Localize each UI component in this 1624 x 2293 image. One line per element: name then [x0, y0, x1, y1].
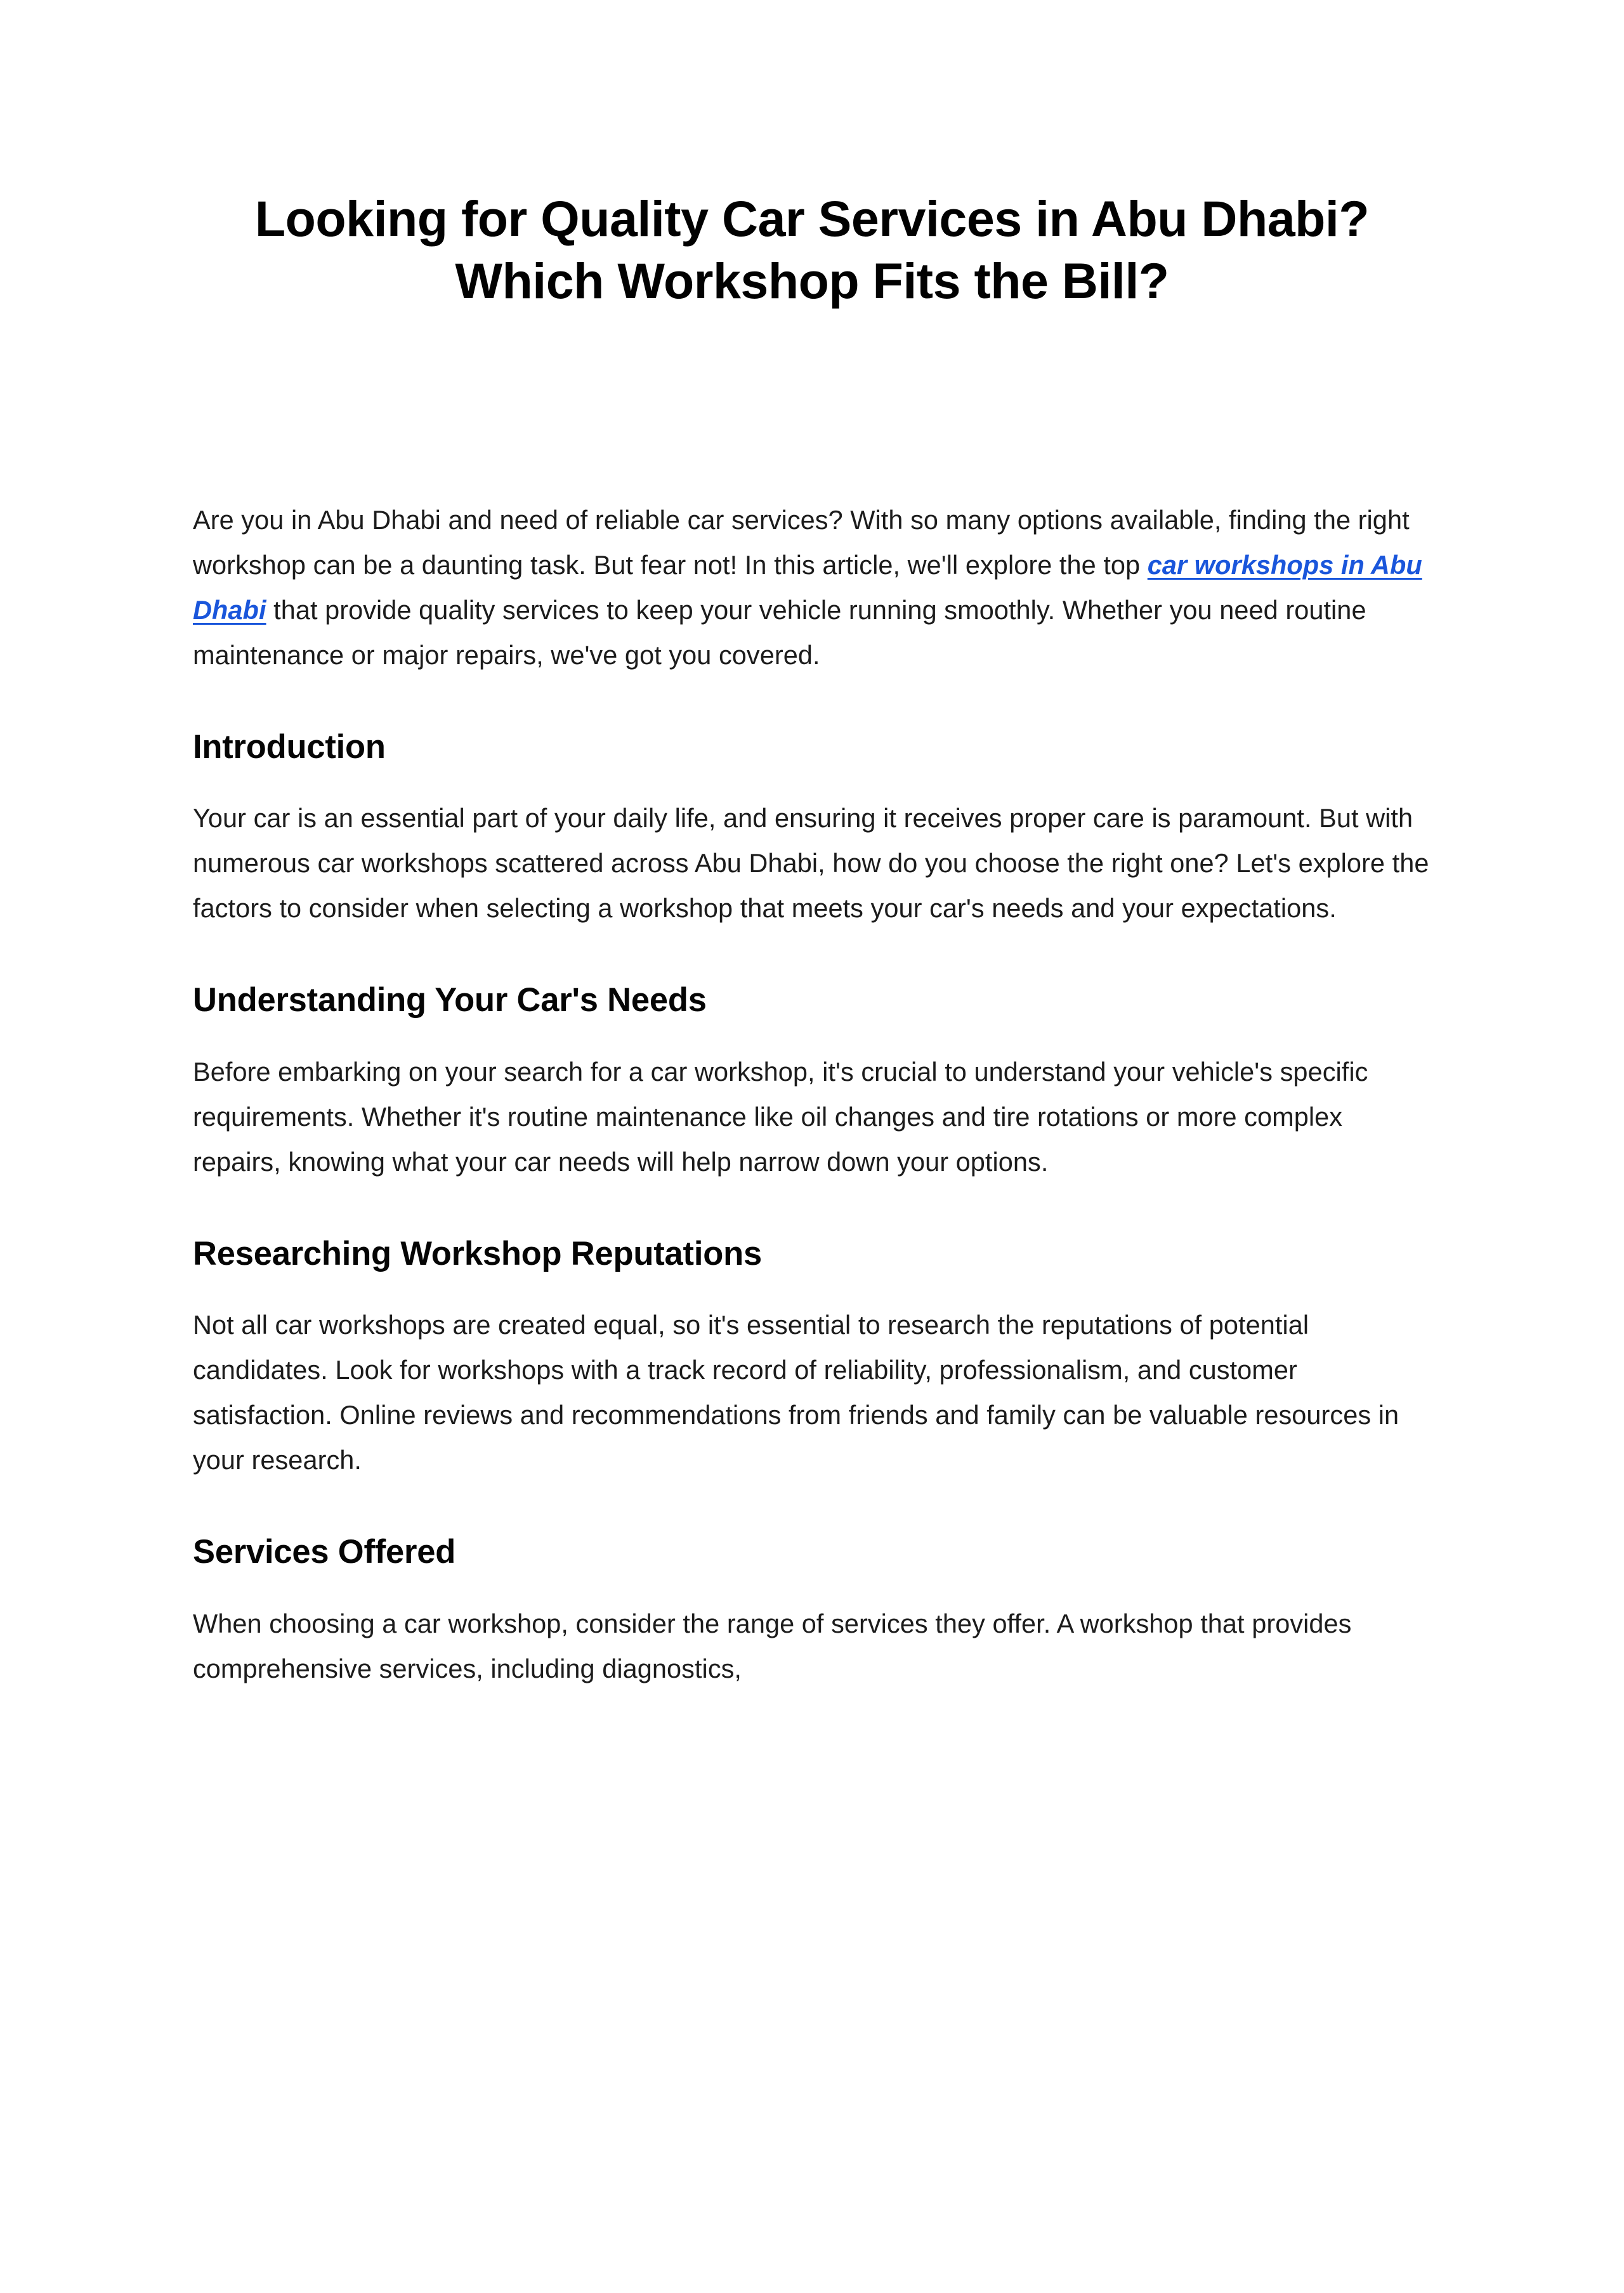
- document-content-column: Looking for Quality Car Services in Abu …: [193, 0, 1431, 1691]
- section-heading-understanding-your-cars-needs: Understanding Your Car's Needs: [193, 984, 1431, 1017]
- section-heading-services-offered: Services Offered: [193, 1536, 1431, 1569]
- section-body-introduction: Your car is an essential part of your da…: [193, 795, 1431, 931]
- section-body-researching-workshop-reputations: Not all car workshops are created equal,…: [193, 1302, 1431, 1482]
- section-body-understanding-your-cars-needs: Before embarking on your search for a ca…: [193, 1049, 1431, 1184]
- document-page: Looking for Quality Car Services in Abu …: [0, 0, 1624, 2293]
- section-heading-introduction: Introduction: [193, 731, 1431, 764]
- page-title: Looking for Quality Car Services in Abu …: [193, 0, 1431, 312]
- section-body-services-offered: When choosing a car workshop, consider t…: [193, 1601, 1431, 1691]
- section-heading-researching-workshop-reputations: Researching Workshop Reputations: [193, 1238, 1431, 1271]
- lead-paragraph: Are you in Abu Dhabi and need of reliabl…: [193, 497, 1431, 677]
- lead-text-after-link: that provide quality services to keep yo…: [193, 595, 1366, 670]
